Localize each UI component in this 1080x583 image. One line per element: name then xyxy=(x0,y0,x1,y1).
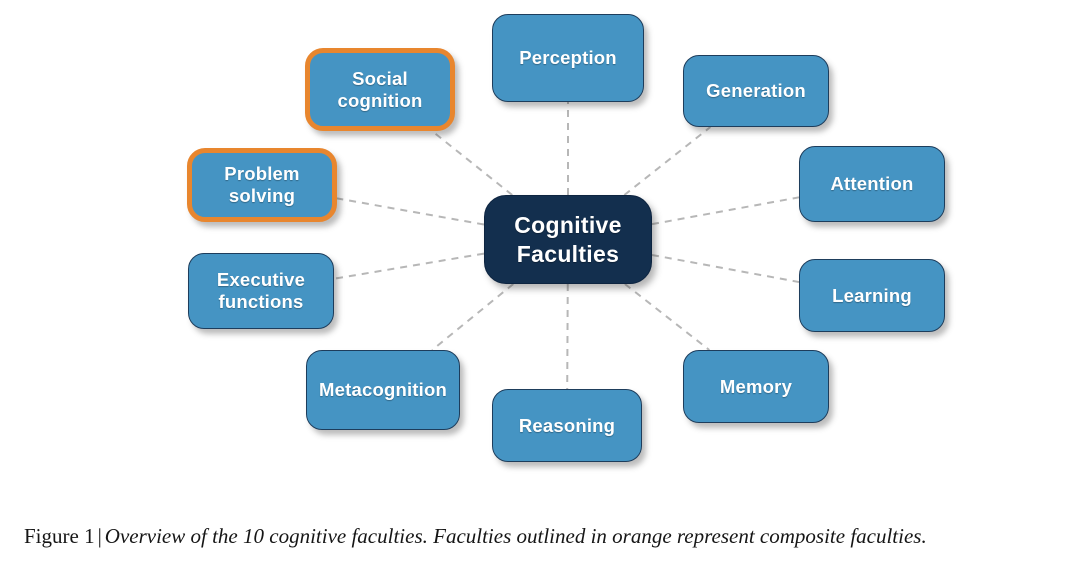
node-label: Generation xyxy=(706,80,806,102)
node-label: Problemsolving xyxy=(224,163,299,207)
node-metacognition[interactable]: Metacognition xyxy=(306,350,460,430)
node-learning[interactable]: Learning xyxy=(799,259,945,332)
caption-text: Overview of the 10 cognitive faculties. … xyxy=(105,524,927,548)
connector-memory xyxy=(625,284,709,350)
node-cognitive-faculties[interactable]: CognitiveFaculties xyxy=(484,195,652,284)
connector-problem-solving xyxy=(337,198,484,224)
node-memory[interactable]: Memory xyxy=(683,350,829,423)
node-executive-functions[interactable]: Executivefunctions xyxy=(188,253,334,329)
connector-social-cognition xyxy=(432,131,512,195)
connector-reasoning xyxy=(567,284,568,389)
figure-caption: Figure 1|Overview of the 10 cognitive fa… xyxy=(24,524,1064,549)
node-label: Attention xyxy=(831,173,914,195)
caption-separator: | xyxy=(95,524,105,548)
connector-executive-functions xyxy=(334,254,484,279)
node-label: Socialcognition xyxy=(337,68,422,112)
node-label: Perception xyxy=(519,47,617,69)
connector-metacognition xyxy=(432,284,513,350)
node-perception[interactable]: Perception xyxy=(492,14,644,102)
connector-generation xyxy=(624,127,710,195)
caption-label: Figure 1 xyxy=(24,524,95,548)
node-label: Learning xyxy=(832,285,912,307)
node-problem-solving[interactable]: Problemsolving xyxy=(187,148,337,222)
node-generation[interactable]: Generation xyxy=(683,55,829,127)
node-label: CognitiveFaculties xyxy=(514,211,621,267)
node-reasoning[interactable]: Reasoning xyxy=(492,389,642,462)
node-label: Metacognition xyxy=(319,379,447,401)
node-social-cognition[interactable]: Socialcognition xyxy=(305,48,455,131)
node-label: Reasoning xyxy=(519,415,615,437)
connector-learning xyxy=(652,255,799,282)
node-label: Memory xyxy=(720,376,792,398)
node-label: Executivefunctions xyxy=(217,269,305,313)
connector-attention xyxy=(652,197,799,224)
figure-diagram: PerceptionGenerationAttentionLearningMem… xyxy=(0,0,1080,500)
node-attention[interactable]: Attention xyxy=(799,146,945,222)
